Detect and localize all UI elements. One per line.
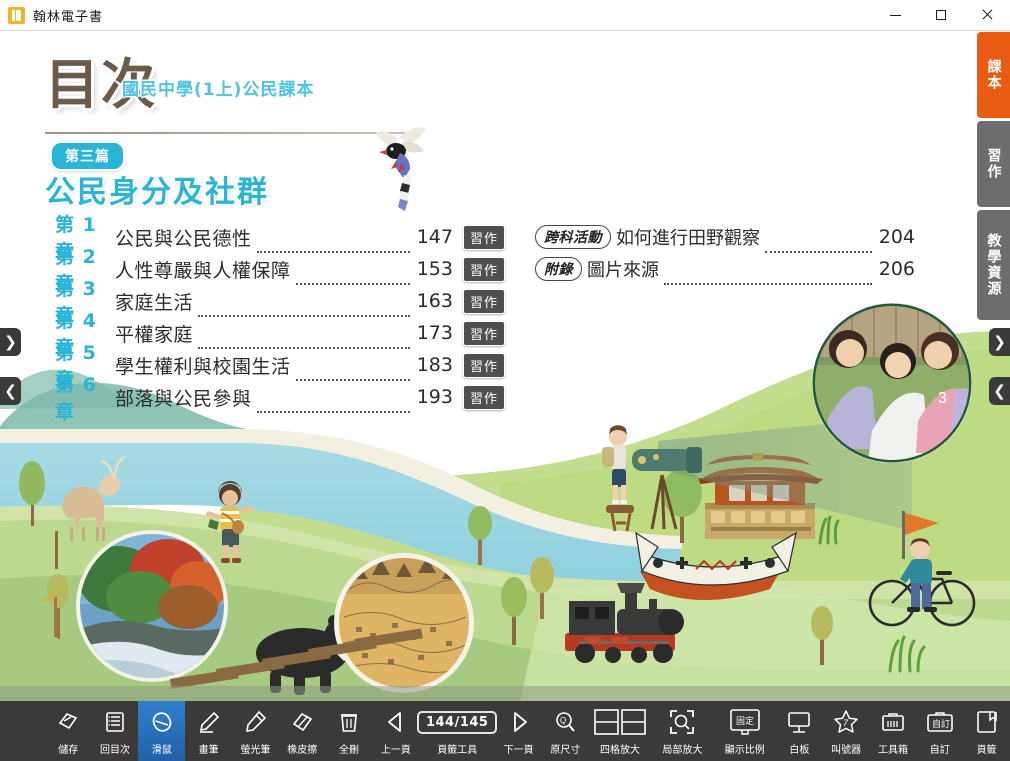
workbook-button[interactable]: 習作 [463,385,505,410]
toolbar-next-page-button[interactable]: 下一頁 [495,701,542,761]
chapter-name: 人性尊嚴與人權保障 [115,256,291,283]
toolbar-eraser-button[interactable]: 橡皮擦 [279,701,326,761]
area-zoom-icon [669,707,695,737]
toc-row[interactable]: 第 6 章 部落與公民參與 193 習作 [55,381,505,413]
workbook-button[interactable]: 習作 [463,353,505,378]
toolbar-label: 顯示比例 [725,741,765,756]
toc-row[interactable]: 跨科活動 如何進行田野觀察 204 [535,221,915,253]
tab-teaching-resources[interactable]: 教學資源 [977,210,1010,320]
bottom-toolbar: 儲存 回目次 滑鼠 畫筆 螢光筆 [0,701,1010,761]
workbook-button[interactable]: 習作 [463,289,505,314]
toc-extras-list: 跨科活動 如何進行田野觀察 204 附錄 圖片來源 206 [535,221,915,285]
chapter-name: 平權家庭 [115,320,193,347]
toolbar-label: 橡皮擦 [287,741,317,756]
toc-chapter-list: 第 1 章 公民與公民德性 147 習作 第 2 章 人性尊嚴與人權保障 153… [55,221,505,413]
book-page: 3 [0,31,1010,701]
left-panel-collapse-button[interactable]: ❮ [0,377,21,405]
toolbar-label: 原尺寸 [550,741,580,756]
section-title: 公民身分及社群 [45,167,269,211]
toc-row[interactable]: 附錄 圖片來源 206 [535,253,915,285]
maximize-button[interactable] [918,0,964,31]
toolbar-bookmark-button[interactable]: 頁籤 [963,701,1010,761]
toolbar-pen-button[interactable]: 畫筆 [185,701,232,761]
right-panel-expand-button[interactable]: ❯ [989,328,1010,356]
chapter-page: 183 [415,354,453,376]
leader-dots [765,239,872,253]
toc-row[interactable]: 第 5 章 學生權利與校園生活 183 習作 [55,349,505,381]
svg-text:3: 3 [938,390,947,407]
chapter-name: 家庭生活 [115,288,193,315]
toolbar-original-size-button[interactable]: Q 原尺寸 [542,701,589,761]
pen-icon [197,707,221,737]
chapter-page: 163 [415,290,453,312]
toolbar-label: 頁籤 [977,741,997,756]
toolbar-label: 螢光筆 [240,741,270,756]
window-controls [872,0,1010,31]
extra-page: 204 [877,226,915,248]
window-title: 翰林電子書 [33,6,103,25]
contents-list-icon [103,707,127,737]
page-indicator[interactable]: 144/145 [417,707,498,737]
book-subtitle: 國民中學(1上)公民課本 [122,75,314,100]
toolbar-toolbox-button[interactable]: 工具箱 [870,701,917,761]
toc-row[interactable]: 第 1 章 公民與公民德性 147 習作 [55,221,505,253]
toolbar-label: 白板 [789,741,809,756]
blue-magpie-bird-icon [372,123,432,213]
leader-dots [257,399,410,413]
photo-circle-oldmap [334,553,474,693]
leader-dots [296,271,410,285]
highlighter-icon [243,707,267,737]
svg-text:Q: Q [560,716,566,725]
right-panel-collapse-button[interactable]: ❮ [989,377,1010,405]
chapter-name: 部落與公民參與 [115,384,252,411]
toolbar-whiteboard-button[interactable]: 白板 [776,701,823,761]
svg-text:固定: 固定 [736,715,754,726]
svg-text:自訂: 自訂 [932,718,950,729]
leader-dots [296,367,410,381]
toolbar-display-ratio-button[interactable]: 固定 顯示比例 [714,701,776,761]
bookmark-tab-icon [974,707,1000,737]
toolbar-label: 四格放大 [600,741,640,756]
toolbar-highlighter-button[interactable]: 螢光筆 [232,701,279,761]
toolbar-label: 自訂 [930,741,950,756]
chapter-page: 153 [415,258,453,280]
toolbar-contents-button[interactable]: 回目次 [92,701,139,761]
chapter-name: 學生權利與校園生活 [115,352,291,379]
toolbar-mouse-button[interactable]: 滑鼠 [138,701,185,761]
display-ratio-icon: 固定 [728,707,762,737]
toc-row[interactable]: 第 2 章 人性尊嚴與人權保障 153 習作 [55,253,505,285]
toolbar-quad-zoom-button[interactable]: 四格放大 [589,701,651,761]
next-page-icon [506,707,532,737]
tab-textbook[interactable]: 課本 [977,32,1010,118]
leader-dots [198,335,410,349]
chapter-name: 公民與公民德性 [115,224,252,251]
toolbar-label: 儲存 [58,741,78,756]
title-bar: 翰林電子書 [0,0,1010,31]
book-icon [8,7,25,24]
chapter-page: 147 [415,226,453,248]
extra-page: 206 [877,258,915,280]
toolbar-label: 局部放大 [662,741,702,756]
toolbar-page-tool-button[interactable]: 144/145 頁籤工具 [419,701,495,761]
zoom-original-icon: Q [553,707,577,737]
toolbar-label: 下一頁 [504,741,534,756]
extra-tag: 跨科活動 [535,225,611,249]
toolbar-clear-all-button[interactable]: 全刪 [326,701,373,761]
toolbar-number-caller-button[interactable]: 7 叫號器 [823,701,870,761]
tab-workbook[interactable]: 習作 [977,121,1010,207]
leader-dots [257,239,410,253]
workbook-button[interactable]: 習作 [463,321,505,346]
toolbar-custom-button[interactable]: 自訂 自訂 [916,701,963,761]
toolbar-label: 全刪 [339,741,359,756]
workbook-button[interactable]: 習作 [463,257,505,282]
toolbar-label: 叫號器 [831,741,861,756]
toc-row[interactable]: 第 4 章 平權家庭 173 習作 [55,317,505,349]
trash-icon [337,707,361,737]
extra-name: 圖片來源 [587,256,659,282]
toolbar-label: 上一頁 [381,741,411,756]
toolbar-label: 畫筆 [199,741,219,756]
mouse-icon [149,707,175,737]
header-divider [45,132,405,134]
close-button[interactable] [964,0,1010,31]
leader-dots [198,303,410,317]
extra-tag: 附錄 [535,257,582,281]
left-panel-expand-button[interactable]: ❯ [0,328,21,356]
svg-text:7: 7 [843,718,849,728]
toc-row[interactable]: 第 3 章 家庭生活 163 習作 [55,285,505,317]
leader-dots [664,271,872,285]
save-diamond-icon [56,707,80,737]
ebook-window: 翰林電子書 [0,0,1010,761]
workbook-button[interactable]: 習作 [463,225,505,250]
extra-name: 如何進行田野觀察 [616,224,760,250]
star-caller-icon: 7 [833,707,859,737]
chapter-number: 第 6 章 [55,370,115,424]
eraser-icon [290,707,314,737]
toolbar-label: 滑鼠 [152,741,172,756]
chapter-page: 173 [415,322,453,344]
prev-page-icon [383,707,409,737]
toolbar-label: 頁籤工具 [437,741,477,756]
quad-zoom-icon [594,707,646,737]
toolbar-label: 回目次 [100,741,130,756]
chapter-page: 193 [415,386,453,408]
right-tab-strip: 課本 習作 教學資源 [977,32,1010,323]
minimize-button[interactable] [872,0,918,31]
toolbar-area-zoom-button[interactable]: 局部放大 [651,701,713,761]
toolbox-icon [880,707,906,737]
whiteboard-icon [786,707,812,737]
toolbar-save-button[interactable]: 儲存 [45,701,92,761]
toolbar-label: 工具箱 [878,741,908,756]
page-indicator-value[interactable]: 144/145 [417,711,498,734]
toolbar-prev-page-button[interactable]: 上一頁 [372,701,419,761]
custom-case-icon: 自訂 [925,707,955,737]
